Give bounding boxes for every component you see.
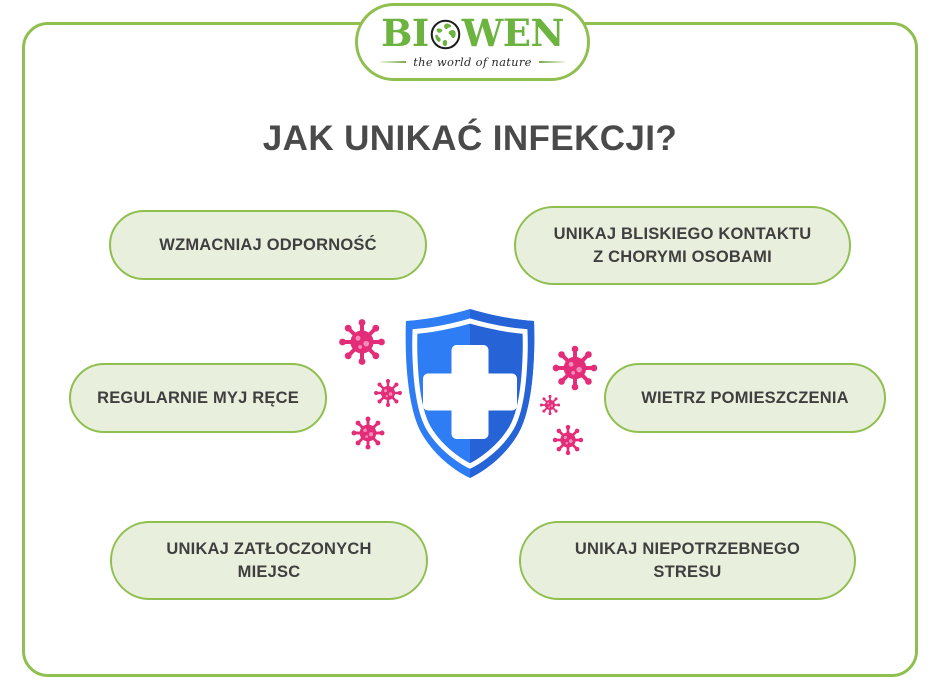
- tip-pill-regularnie-myj-rece[interactable]: REGULARNIE MYJ RĘCE: [69, 363, 327, 433]
- tip-pill-unikaj-zatloczonych-miejsc[interactable]: UNIKAJ ZATŁOCZONYCH MIEJSC: [110, 521, 428, 600]
- infographic-page: BI WEN the world of nature: [0, 0, 940, 700]
- tip-pill-line: WZMACNIAJ ODPORNOŚĆ: [159, 234, 376, 257]
- shield-with-medical-cross-icon: [406, 309, 535, 478]
- tip-pill-line: UNIKAJ ZATŁOCZONYCH: [166, 538, 371, 561]
- brand-tagline-row: the world of nature: [380, 55, 565, 69]
- tip-pill-line: WIETRZ POMIESZCZENIA: [641, 387, 849, 410]
- page-title: JAK UNIKAĆ INFEKCJI?: [0, 119, 940, 159]
- globe-icon: [430, 19, 461, 50]
- tip-pill-line: STRESU: [575, 561, 800, 584]
- tip-pill-unikaj-niepotrzebnego-stresu[interactable]: UNIKAJ NIEPOTRZEBNEGO STRESU: [519, 521, 856, 600]
- tip-pill-line: Z CHORYMI OSOBAMI: [554, 246, 812, 269]
- shield-illustration: [330, 300, 610, 495]
- tip-pill-unikaj-bliskiego-kontaktu[interactable]: UNIKAJ BLISKIEGO KONTAKTU Z CHORYMI OSOB…: [514, 206, 851, 285]
- tip-pill-line: MIEJSC: [166, 561, 371, 584]
- tip-pill-wietrz-pomieszczenia[interactable]: WIETRZ POMIESZCZENIA: [604, 363, 886, 433]
- brand-tagline: the world of nature: [413, 55, 532, 69]
- tip-pill-wzmacniaj-odpornosc[interactable]: WZMACNIAJ ODPORNOŚĆ: [109, 210, 427, 280]
- brand-name-part1: BI: [381, 15, 429, 52]
- brand-name-part2: WEN: [462, 15, 564, 52]
- tip-pill-line: UNIKAJ NIEPOTRZEBNEGO: [575, 538, 800, 561]
- brand-wordmark: BI WEN: [381, 15, 564, 52]
- tip-pill-line: REGULARNIE MYJ RĘCE: [97, 387, 299, 410]
- tip-pill-line: UNIKAJ BLISKIEGO KONTAKTU: [554, 223, 812, 246]
- brand-logo-badge: BI WEN the world of nature: [355, 3, 590, 81]
- tagline-rule-left: [380, 61, 406, 63]
- tagline-rule-right: [539, 61, 565, 63]
